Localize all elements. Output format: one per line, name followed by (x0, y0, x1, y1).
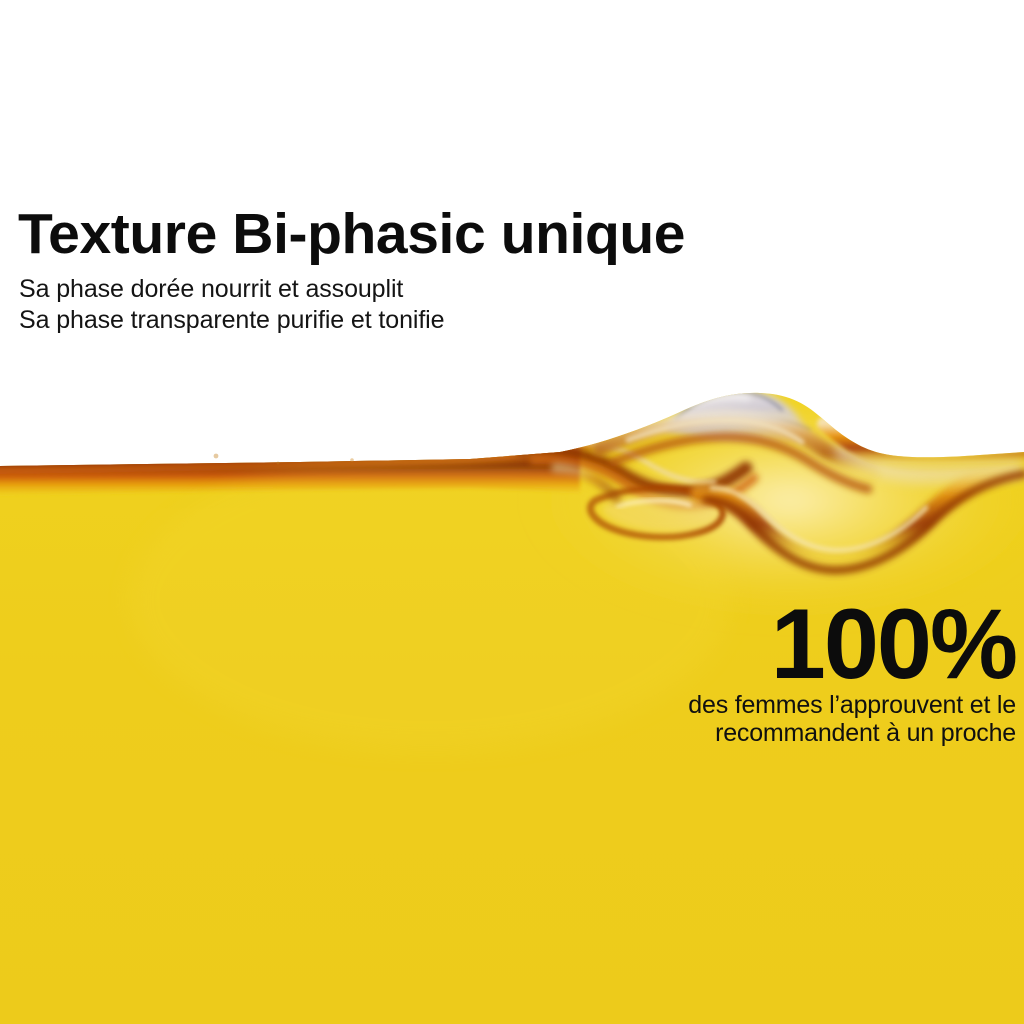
page-title: Texture Bi-phasic unique (18, 206, 818, 263)
subtitle-block: Sa phase dorée nourrit et assouplit Sa p… (19, 274, 819, 336)
statistic-caption: des femmes l’approuvent et le recommande… (536, 688, 1016, 747)
statistic-block: 100% des femmes l’approuvent et le recom… (536, 600, 1016, 747)
subtitle-line-1: Sa phase dorée nourrit et assouplit (19, 274, 819, 305)
headline-block: Texture Bi-phasic unique (18, 206, 818, 263)
statistic-caption-line-1: des femmes l’approuvent et le (536, 691, 1016, 719)
statistic-value: 100% (536, 600, 1016, 688)
statistic-caption-line-2: recommandent à un proche (536, 719, 1016, 747)
text-overlay: Texture Bi-phasic unique Sa phase dorée … (0, 0, 1024, 1024)
product-key-visual: Texture Bi-phasic unique Sa phase dorée … (0, 0, 1024, 1024)
subtitle-line-2: Sa phase transparente purifie et tonifie (19, 305, 819, 336)
